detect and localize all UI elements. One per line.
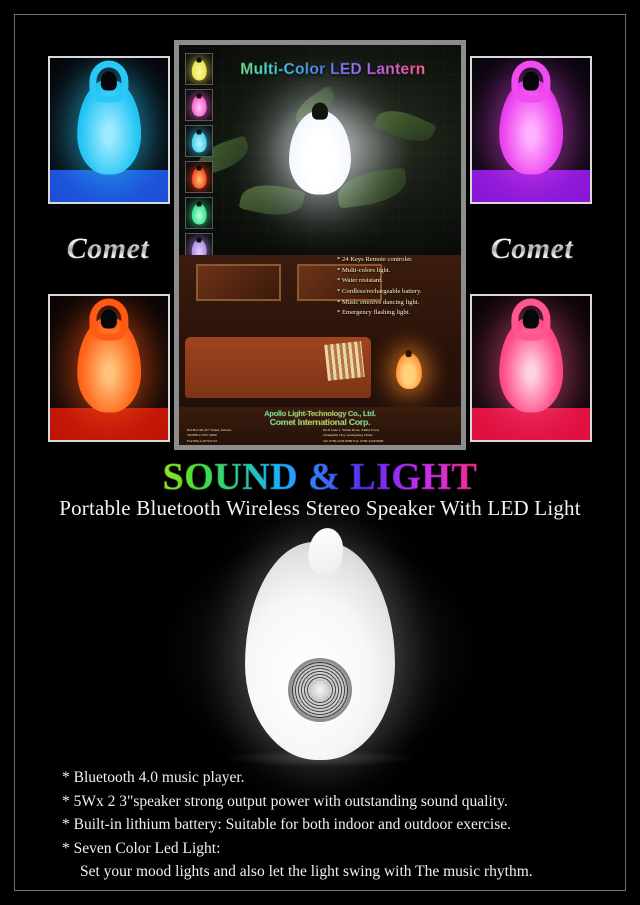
hero-lantern: [289, 111, 351, 195]
spec-list: * Bluetooth 4.0 music player. * 5Wx 2 3"…: [62, 766, 600, 884]
color-swatch: [185, 125, 213, 157]
color-swatch: [185, 197, 213, 229]
spec-item: * Bluetooth 4.0 music player.: [62, 766, 600, 790]
headline-title: SOUND & LIGHT: [0, 455, 640, 499]
bluetooth-speaker-lantern: [245, 542, 395, 760]
poster-feature-item: * Water resistant.: [337, 276, 455, 287]
photo-floor: [472, 170, 590, 202]
lantern-shape: [499, 80, 563, 175]
lantern-shape: [192, 131, 207, 152]
poster-feature-item: * Multi-colors light.: [337, 266, 455, 277]
color-swatch: [185, 89, 213, 121]
headline-subtitle: Portable Bluetooth Wireless Stereo Speak…: [0, 496, 640, 521]
handle-hole: [197, 165, 201, 170]
poster-title: Multi-Color LED Lantern: [179, 61, 461, 79]
inner-poster-body: Multi-Color LED Lantern: [179, 45, 461, 445]
color-swatch-strip: [185, 53, 213, 269]
photo-inner: [50, 58, 168, 202]
product-photo-magenta: [470, 56, 592, 204]
poster-feature-item: * Music emotive dancing light.: [337, 298, 455, 309]
speaker-grille-icon: [288, 658, 352, 722]
contact-line: E-mail: comtrol@gmail.com: [323, 444, 453, 445]
poster-feature-item: * 24 Keys Remote controler.: [337, 255, 455, 266]
color-swatch: [185, 53, 213, 85]
lantern-shape: [192, 95, 207, 116]
brand-name-right: Comet: [452, 232, 612, 266]
spec-item: * Seven Color Led Light:: [62, 837, 600, 861]
poster-feature-list: * 24 Keys Remote controler. * Multi-colo…: [337, 255, 455, 319]
handle-hole: [312, 103, 328, 120]
company-name-secondary: Comet International Corp.: [183, 417, 457, 427]
contact-line: E-mail: apollolite@gmail.com: [187, 444, 317, 445]
room-lantern: [396, 353, 422, 389]
product-photo-cyan: [48, 56, 170, 204]
wall-art-left: [196, 264, 281, 300]
handle-hole: [101, 71, 118, 90]
poster-footer: Apollo Light-Technology Co., Ltd. Comet …: [179, 407, 461, 445]
poster-hero-scene: Multi-Color LED Lantern: [179, 45, 461, 257]
photo-floor: [472, 408, 590, 440]
lantern-shape: [192, 167, 207, 188]
spec-item: * Built-in lithium battery: Suitable for…: [62, 813, 600, 837]
product-photo-orange: [48, 294, 170, 442]
color-swatch: [185, 161, 213, 193]
speaker-shadow: [225, 749, 415, 767]
lantern-shape: [192, 59, 207, 80]
spec-item: * 5Wx 2 3"speaker strong output power wi…: [62, 790, 600, 814]
handle-hole: [405, 350, 412, 357]
handle-hole: [101, 309, 118, 328]
hero-product-stage: [0, 528, 640, 773]
handle-hole: [197, 93, 201, 98]
contact-column-china: No.6 Lane 1, Yulian Road, Xiuhu Town, Ch…: [323, 428, 453, 445]
photo-inner: [50, 296, 168, 440]
lantern-shape: [77, 318, 141, 413]
lantern-shape: [192, 203, 207, 224]
spec-item: Set your mood lights and also let the li…: [62, 860, 600, 884]
poster-feature-item: * Emergency flashing light.: [337, 308, 455, 319]
brand-name-left: Comet: [28, 232, 188, 266]
photo-inner: [472, 58, 590, 202]
lantern-shape: [77, 80, 141, 175]
lantern-shape: [499, 318, 563, 413]
product-photo-pink: [470, 294, 592, 442]
handle-hole: [197, 201, 201, 206]
photo-floor: [50, 170, 168, 202]
inner-poster: Multi-Color LED Lantern: [174, 40, 466, 450]
advertisement-page: Comet Comet Multi-Color LED Lantern: [0, 0, 640, 905]
handle-hole: [523, 71, 540, 90]
photo-inner: [472, 296, 590, 440]
contact-block: P.O.Box 96-457 Taipei, Taiwan. Tel:886-2…: [183, 428, 457, 445]
handle-hole: [197, 129, 201, 134]
handle-hole: [197, 57, 201, 62]
photo-floor: [50, 408, 168, 440]
handle-hole: [197, 237, 201, 242]
product-montage: Comet Comet Multi-Color LED Lantern: [22, 36, 618, 451]
handle-hole: [523, 309, 540, 328]
pillow: [324, 341, 364, 381]
contact-column-taiwan: P.O.Box 96-457 Taipei, Taiwan. Tel:886-2…: [187, 428, 317, 445]
poster-feature-item: * Cordless/rechargeable battery.: [337, 287, 455, 298]
